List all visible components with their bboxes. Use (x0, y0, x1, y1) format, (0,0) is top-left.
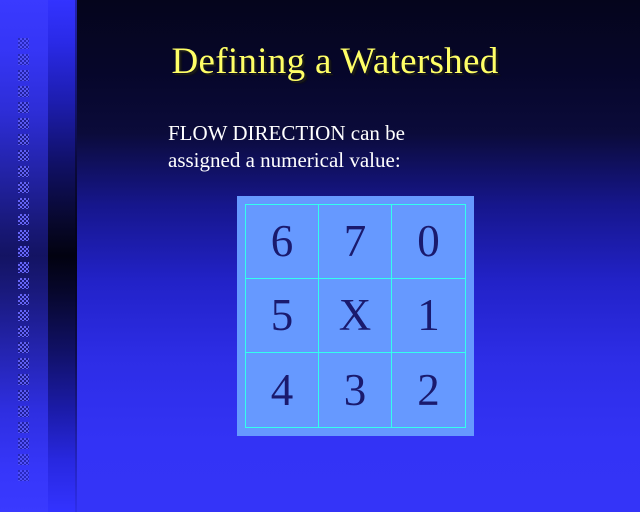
sidebar-dot-square (18, 262, 29, 273)
grid-cell-r3c1: 4 (246, 353, 319, 427)
sidebar-dot-square (18, 134, 29, 145)
grid-cell-r1c1: 6 (246, 205, 319, 279)
grid-cell-r2c1: 5 (246, 279, 319, 353)
grid-cell-center-x: X (319, 279, 392, 353)
slide-body-text: FLOW DIRECTION can be assigned a numeric… (168, 120, 498, 174)
sidebar-dot-square (18, 310, 29, 321)
sidebar-dot-square (18, 358, 29, 369)
sidebar-dot-square (18, 326, 29, 337)
sidebar-dot-square (18, 214, 29, 225)
sidebar-dot-square (18, 246, 29, 257)
sidebar-dot-square (18, 150, 29, 161)
grid-cell-r1c2: 7 (319, 205, 392, 279)
sidebar-dot-square (18, 470, 29, 481)
sidebar-dot-square (18, 406, 29, 417)
sidebar-dot-square (18, 102, 29, 113)
body-line-2: assigned a numerical value: (168, 147, 498, 174)
grid-cell-r2c3: 1 (392, 279, 465, 353)
sidebar-dotted-squares (18, 38, 30, 488)
sidebar-dot-square (18, 374, 29, 385)
sidebar-dot-square (18, 230, 29, 241)
grid-cell-r3c3: 2 (392, 353, 465, 427)
body-line-1: FLOW DIRECTION can be (168, 120, 498, 147)
flow-direction-grid-cells: 6 7 0 5 X 1 4 3 2 (245, 204, 466, 428)
sidebar-dot-square (18, 390, 29, 401)
sidebar-dot-square (18, 422, 29, 433)
sidebar-dot-square (18, 294, 29, 305)
sidebar-dot-square (18, 198, 29, 209)
grid-cell-r1c3: 0 (392, 205, 465, 279)
slide-title: Defining a Watershed (100, 40, 570, 84)
slide-sidebar-decoration (0, 0, 77, 512)
sidebar-dot-square (18, 342, 29, 353)
sidebar-dot-square (18, 118, 29, 129)
sidebar-dot-square (18, 38, 29, 49)
sidebar-dot-square (18, 54, 29, 65)
slide-canvas: Defining a Watershed FLOW DIRECTION can … (0, 0, 640, 512)
sidebar-dot-square (18, 278, 29, 289)
sidebar-dot-square (18, 70, 29, 81)
sidebar-edge-divider (75, 0, 77, 512)
sidebar-dot-square (18, 454, 29, 465)
flow-direction-grid: 6 7 0 5 X 1 4 3 2 (237, 196, 474, 436)
grid-cell-r3c2: 3 (319, 353, 392, 427)
sidebar-dot-square (18, 182, 29, 193)
sidebar-dot-square (18, 438, 29, 449)
sidebar-dot-square (18, 166, 29, 177)
sidebar-dot-square (18, 86, 29, 97)
